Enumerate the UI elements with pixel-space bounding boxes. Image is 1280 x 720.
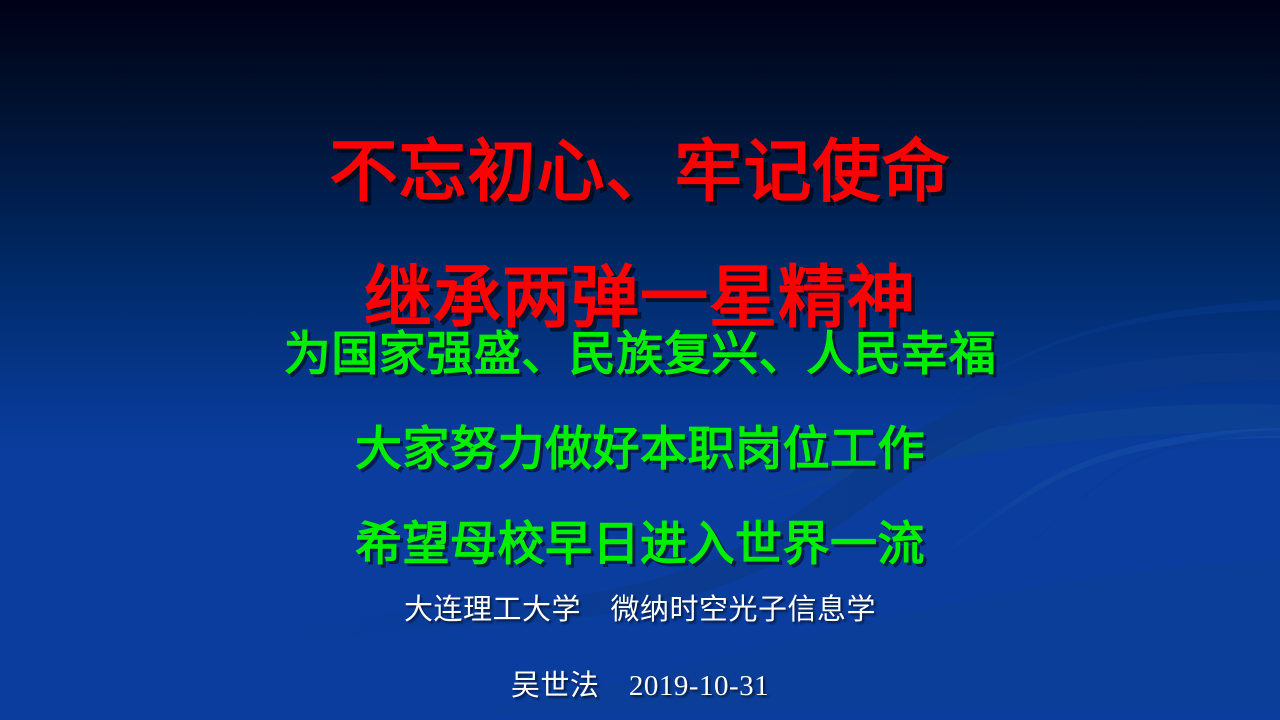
- slide-footer: 大连理工大学 微纳时空光子信息学 吴世法 2019-10-31: [0, 560, 1280, 720]
- footer-author-date-line: 吴世法 2019-10-31: [0, 672, 1280, 701]
- subtitle-line-1: 为国家强盛、民族复兴、人民幸福: [0, 332, 1280, 379]
- subtitle-line-2: 大家努力做好本职岗位工作: [0, 427, 1280, 474]
- footer-affiliation-line: 大连理工大学 微纳时空光子信息学: [0, 596, 1280, 625]
- title-line-1: 不忘初心、牢记使命: [0, 138, 1280, 206]
- presentation-slide: 不忘初心、牢记使命 继承两弹一星精神 为国家强盛、民族复兴、人民幸福 大家努力做…: [0, 0, 1280, 720]
